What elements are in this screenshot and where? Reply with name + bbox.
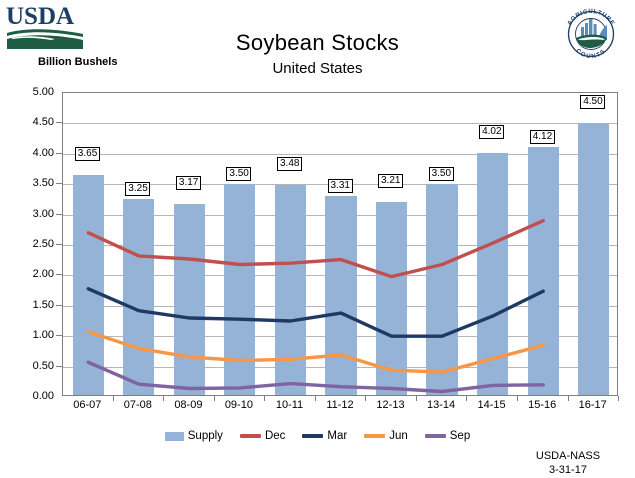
x-axis-tick-label: 11-12 bbox=[317, 399, 363, 411]
legend-swatch-mar bbox=[302, 434, 323, 438]
line-series-mar bbox=[88, 289, 543, 336]
x-axis-tick-label: 15-16 bbox=[519, 399, 565, 411]
bar-value-label: 4.50 bbox=[580, 95, 605, 109]
footer-date: 3-31-17 bbox=[513, 463, 623, 477]
legend-swatch-jun bbox=[364, 434, 385, 438]
y-axis-tick-label: 2.00 bbox=[14, 268, 54, 280]
x-axis-tick-label: 13-14 bbox=[418, 399, 464, 411]
legend-swatch-dec bbox=[240, 434, 261, 438]
legend-item-sep[interactable]: Sep bbox=[425, 430, 470, 442]
chart-legend: SupplyDecMarJunSep bbox=[0, 430, 635, 442]
x-axis-tick bbox=[365, 396, 366, 401]
legend-item-dec[interactable]: Dec bbox=[240, 430, 285, 442]
legend-label: Dec bbox=[265, 430, 285, 442]
x-axis-tick bbox=[517, 396, 518, 401]
legend-label: Sep bbox=[450, 430, 470, 442]
legend-item-supply[interactable]: Supply bbox=[165, 430, 223, 442]
legend-label: Supply bbox=[188, 430, 223, 442]
footer-agency: USDA-NASS bbox=[513, 449, 623, 463]
x-axis-tick bbox=[416, 396, 417, 401]
bar-value-label: 3.21 bbox=[378, 174, 403, 188]
bar-value-label: 4.12 bbox=[530, 130, 555, 144]
line-series-dec bbox=[88, 221, 543, 277]
x-axis-tick-label: 12-13 bbox=[368, 399, 414, 411]
x-axis-tick bbox=[466, 396, 467, 401]
legend-label: Jun bbox=[389, 430, 408, 442]
x-axis-tick-label: 14-15 bbox=[469, 399, 515, 411]
legend-swatch-supply bbox=[165, 432, 184, 441]
x-axis-tick bbox=[113, 396, 114, 401]
x-axis-tick-label: 10-11 bbox=[267, 399, 313, 411]
line-series-jun bbox=[88, 332, 543, 372]
legend-swatch-sep bbox=[425, 434, 446, 438]
y-axis-tick-label: 4.50 bbox=[14, 116, 54, 128]
bar-value-label: 3.17 bbox=[176, 176, 201, 190]
x-axis-tick bbox=[214, 396, 215, 401]
line-series-sep bbox=[88, 362, 543, 391]
legend-label: Mar bbox=[327, 430, 347, 442]
x-axis-tick-label: 09-10 bbox=[216, 399, 262, 411]
y-axis-title: Billion Bushels bbox=[38, 56, 117, 68]
x-axis-tick bbox=[568, 396, 569, 401]
legend-item-mar[interactable]: Mar bbox=[302, 430, 347, 442]
bar-value-label: 3.48 bbox=[277, 157, 302, 171]
y-axis-tick-label: 5.00 bbox=[14, 86, 54, 98]
y-axis-tick-label: 4.00 bbox=[14, 147, 54, 159]
y-axis-tick-label: 0.00 bbox=[14, 390, 54, 402]
x-axis-tick bbox=[315, 396, 316, 401]
y-axis-tick-label: 1.00 bbox=[14, 329, 54, 341]
bar-value-label: 4.02 bbox=[479, 125, 504, 139]
x-axis-tick-label: 16-17 bbox=[570, 399, 616, 411]
x-axis-tick-label: 07-08 bbox=[115, 399, 161, 411]
x-axis-tick bbox=[264, 396, 265, 401]
y-axis-tick-label: 3.00 bbox=[14, 208, 54, 220]
bar-value-label: 3.65 bbox=[75, 147, 100, 161]
bar-value-label: 3.50 bbox=[429, 167, 454, 181]
y-axis-tick-label: 2.50 bbox=[14, 238, 54, 250]
y-axis-tick-label: 3.50 bbox=[14, 177, 54, 189]
x-axis-tick bbox=[163, 396, 164, 401]
x-axis-tick bbox=[618, 396, 619, 401]
bar-value-label: 3.31 bbox=[328, 179, 353, 193]
chart-page: USDA bbox=[0, 0, 635, 478]
footer: USDA-NASS 3-31-17 bbox=[513, 449, 623, 477]
y-axis-tick-label: 0.50 bbox=[14, 360, 54, 372]
x-axis-tick-label: 06-07 bbox=[64, 399, 110, 411]
y-axis-tick-label: 1.50 bbox=[14, 299, 54, 311]
page-title: Soybean Stocks bbox=[0, 30, 635, 56]
x-axis-tick-label: 08-09 bbox=[165, 399, 211, 411]
legend-item-jun[interactable]: Jun bbox=[364, 430, 408, 442]
bar-value-label: 3.25 bbox=[125, 182, 150, 196]
bar-value-label: 3.50 bbox=[226, 167, 251, 181]
usda-wordmark: USDA bbox=[6, 4, 84, 29]
